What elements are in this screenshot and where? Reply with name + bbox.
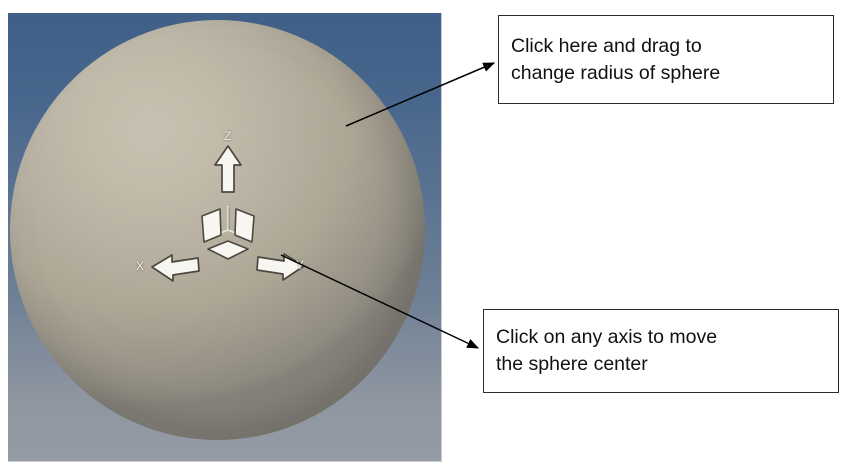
3d-viewport[interactable]: Z X Y — [8, 13, 442, 462]
callout-radius-line-1: Click here and drag to — [511, 33, 821, 60]
callout-center-line-1: Click on any axis to move — [496, 324, 826, 351]
axis-label-z: Z — [224, 130, 231, 142]
callout-center-line-2: the sphere center — [496, 351, 826, 378]
plane-handle-xy[interactable] — [208, 241, 248, 259]
axis-arrow-x[interactable] — [152, 255, 199, 281]
axis-manipulator-gizmo[interactable]: Z X Y — [128, 118, 328, 293]
axis-arrow-z[interactable] — [215, 146, 241, 192]
axis-label-x: X — [136, 260, 144, 272]
callout-radius: Click here and drag to change radius of … — [498, 15, 834, 104]
plane-handle-yz[interactable] — [235, 209, 254, 242]
axis-label-y: Y — [296, 259, 304, 271]
callout-center: Click on any axis to move the sphere cen… — [483, 309, 839, 393]
plane-handle-xz[interactable] — [202, 209, 221, 242]
callout-radius-line-2: change radius of sphere — [511, 60, 821, 87]
